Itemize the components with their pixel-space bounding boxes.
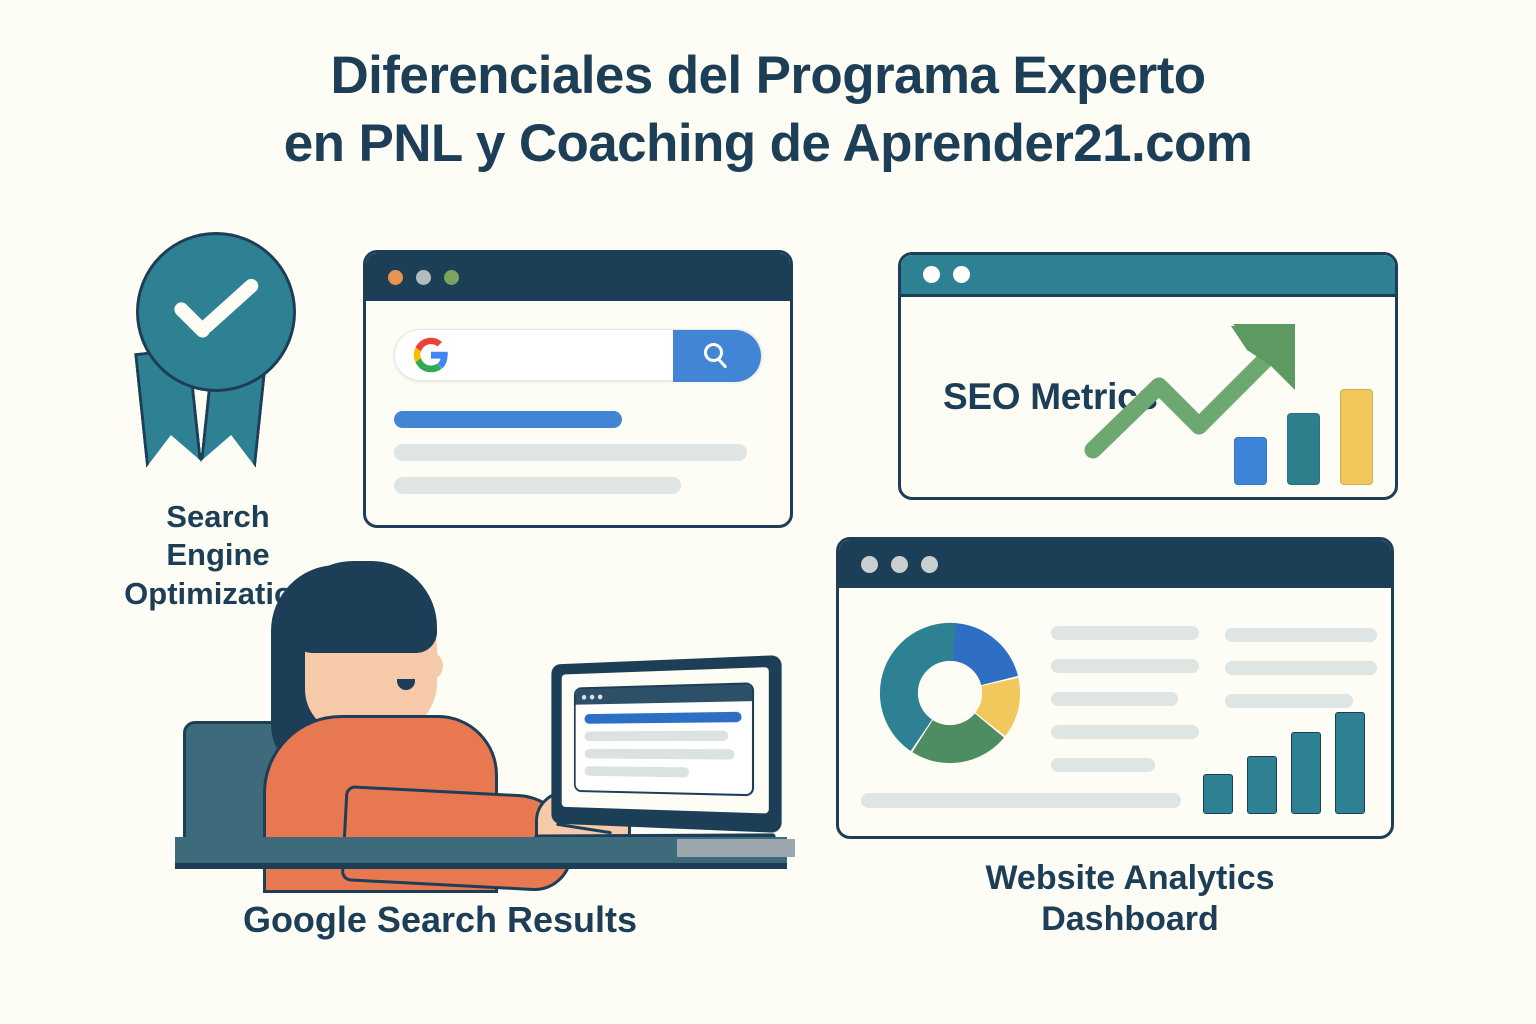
badge-label-line-1: Search [98,498,338,536]
badge-circle [136,232,296,392]
laptop-screen-content [562,667,769,813]
bar-3 [1340,389,1373,485]
minimize-dot-icon[interactable] [953,266,970,283]
seo-metrics-bars [1234,389,1373,485]
close-dot-icon [582,694,586,699]
minimize-dot-icon[interactable] [891,556,908,573]
bar-3 [1291,732,1321,814]
magnifier-icon [704,343,730,369]
skeleton-line [1225,628,1377,642]
analytics-bar-chart [1203,712,1365,814]
skeleton-line [1051,758,1155,772]
close-dot-icon[interactable] [388,270,403,285]
window-titlebar [366,253,790,301]
caption-line-1: Website Analytics [930,858,1330,899]
desk-grey-section [677,839,795,857]
minimize-dot-icon[interactable] [416,270,431,285]
maximize-dot-icon[interactable] [921,556,938,573]
caption-website-analytics-dashboard: Website Analytics Dashboard [930,858,1330,941]
person-at-laptop-illustration [175,555,795,885]
desk-edge-line [175,863,787,869]
skeleton-line [1225,661,1377,675]
result-snippet-bar [394,444,747,461]
mini-browser-window [574,682,754,796]
skeleton-line [1051,725,1199,739]
seo-metrics-window[interactable]: SEO Metrics [898,252,1398,500]
skeleton-line [1225,694,1353,708]
skeleton-line [1051,626,1199,640]
minimize-dot-icon [590,694,594,699]
bar-4 [1335,712,1365,814]
mini-window-body [576,701,752,778]
result-title-bar[interactable] [394,411,622,428]
donut-chart-icon [877,620,1023,766]
maximize-dot-icon[interactable] [444,270,459,285]
result-snippet-bar [394,477,681,494]
laptop-screen [551,655,781,833]
laptop-icon [520,660,780,860]
seo-window-body: SEO Metrics [901,297,1395,497]
close-dot-icon[interactable] [861,556,878,573]
check-badge-icon [118,232,318,482]
window-titlebar [839,540,1391,588]
mini-result-title [585,712,742,724]
analytics-window-body [839,588,1391,836]
mini-result-line [585,749,735,760]
mini-result-line [585,766,689,777]
search-results-list [394,411,762,494]
maximize-dot-icon [598,694,603,699]
page-title: Diferenciales del Programa Experto en PN… [0,42,1536,178]
bar-2 [1247,756,1277,814]
eye [401,633,411,649]
caption-text: Google Search Results [180,898,700,942]
title-line-2: en PNL y Coaching de Aprender21.com [0,110,1536,178]
nose [421,653,443,679]
bar-1 [1203,774,1233,814]
poster-canvas: Diferenciales del Programa Experto en PN… [0,0,1536,1024]
search-input[interactable] [394,329,762,381]
analytics-dashboard-window[interactable] [836,537,1394,839]
bar-1 [1234,437,1267,485]
skeleton-line [1051,659,1199,673]
caption-google-search-results: Google Search Results [180,898,700,942]
skeleton-line [1051,692,1178,706]
window-titlebar [901,255,1395,297]
bar-2 [1287,413,1320,485]
caption-line-2: Dashboard [930,899,1330,940]
analytics-text-column-left [1051,626,1199,791]
skeleton-line-wide [861,793,1181,808]
google-g-logo [413,337,449,373]
search-button[interactable] [673,330,761,382]
mini-result-line [585,731,729,742]
title-line-1: Diferenciales del Programa Experto [0,42,1536,110]
google-search-window[interactable] [363,250,793,528]
google-window-body [366,301,790,494]
checkmark-icon [172,291,264,339]
close-dot-icon[interactable] [923,266,940,283]
